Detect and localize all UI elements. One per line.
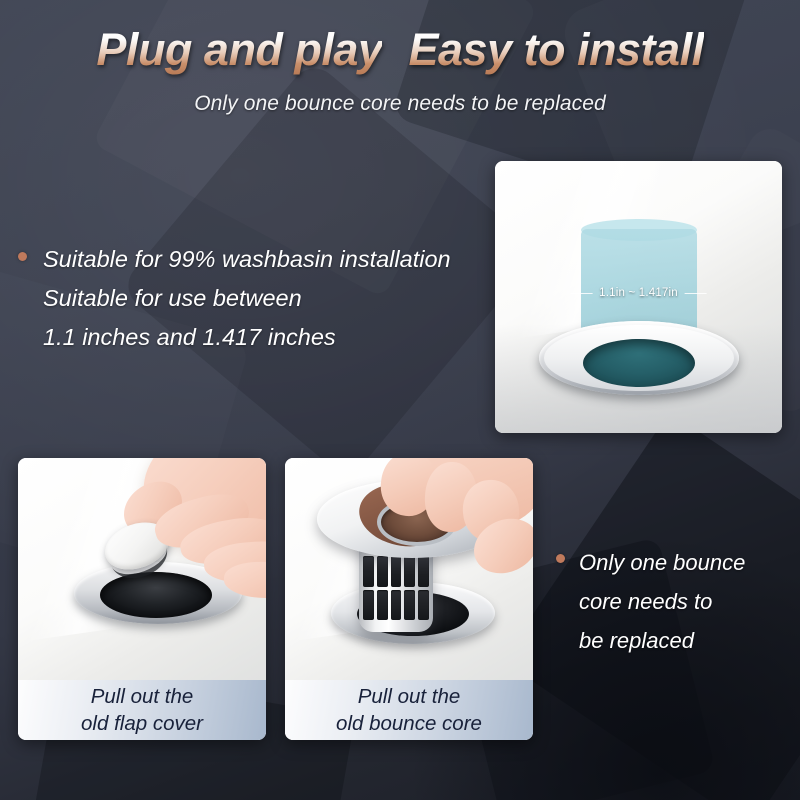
headline: Plug and playEasy to install (0, 24, 800, 76)
headline-part-1: Plug and play (96, 24, 382, 75)
strainer-slot (391, 590, 402, 621)
dimension-line-right (685, 293, 707, 294)
photo-card-bounce-core: SUS304 Pull out the old bounce core (285, 458, 533, 740)
photo-area-core: SUS304 (285, 458, 533, 680)
photo-area-flap (18, 458, 266, 680)
caption-line: old flap cover (81, 711, 203, 737)
drain-opening (100, 572, 212, 618)
bullet-dot-icon (18, 252, 27, 261)
strainer-slot (391, 556, 402, 587)
strainer-slot (363, 556, 374, 587)
strainer-slot (404, 556, 415, 587)
strainer-slot (418, 590, 429, 621)
product-infographic: Plug and playEasy to install Only one bo… (0, 0, 800, 800)
headline-part-2: Easy to install (408, 24, 703, 75)
feature-text-right: Only one bounce core needs to be replace… (579, 543, 745, 660)
feature-line: core needs to (579, 582, 745, 621)
photo-card-flap-cover: Pull out the old flap cover (18, 458, 266, 740)
feature-text-left: Suitable for 99% washbasin installation … (43, 240, 451, 357)
photo-card-fit-range: 1.1in ~ 1.417in (495, 161, 782, 433)
strainer-slot (404, 590, 415, 621)
dimension-annotation: 1.1in ~ 1.417in (570, 287, 707, 299)
caption-band-flap: Pull out the old flap cover (18, 680, 266, 740)
strainer-slot (363, 590, 374, 621)
caption-line: old bounce core (336, 711, 482, 737)
feature-line: Suitable for use between (43, 279, 451, 318)
bullet-dot-icon (556, 554, 565, 563)
feature-line: 1.1 inches and 1.417 inches (43, 318, 451, 357)
dimension-line-left (570, 293, 592, 294)
feature-line: Only one bounce (579, 543, 745, 582)
caption-line: Pull out the (91, 684, 194, 710)
feature-block-left: Suitable for 99% washbasin installation … (18, 240, 488, 357)
strainer-slot (418, 556, 429, 587)
feature-block-right: Only one bounce core needs to be replace… (556, 543, 800, 660)
feature-line: be replaced (579, 621, 745, 660)
caption-band-core: Pull out the old bounce core (285, 680, 533, 740)
strainer-slot (377, 556, 388, 587)
subtitle: Only one bounce core needs to be replace… (0, 92, 800, 116)
strainer-slots (363, 556, 429, 620)
caption-line: Pull out the (358, 684, 461, 710)
dimension-label: 1.1in ~ 1.417in (599, 287, 678, 299)
strainer-slot (377, 590, 388, 621)
feature-line: Suitable for 99% washbasin installation (43, 240, 451, 279)
drain-opening (583, 339, 695, 387)
